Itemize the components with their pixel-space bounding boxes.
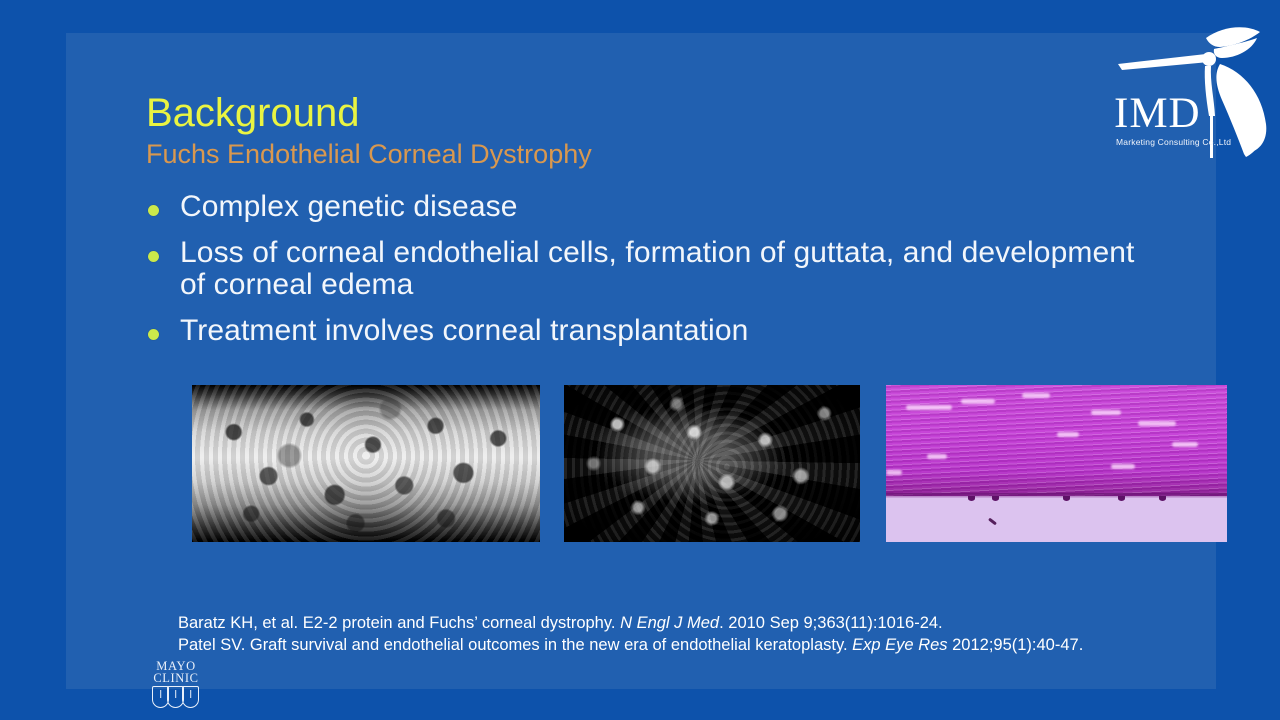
list-item: Treatment involves corneal transplantati…: [146, 315, 1156, 347]
reference-line: Patel SV. Graft survival and endothelial…: [178, 634, 1178, 656]
stroma-streak: [1172, 442, 1198, 447]
bullet-dot-icon: [148, 329, 159, 340]
reference-list: Baratz KH, et al. E2-2 protein and Fuchs…: [178, 612, 1178, 656]
bullet-list: Complex genetic disease Loss of corneal …: [146, 191, 1156, 361]
descemet-guttae-nick: [1063, 496, 1070, 501]
reference-text-pre: Patel SV. Graft survival and endothelial…: [178, 636, 852, 654]
shield-icon: [182, 686, 199, 708]
bullet-text: Loss of corneal endothelial cells, forma…: [180, 237, 1156, 301]
imd-wordmark: IMD: [1114, 92, 1201, 135]
reference-text-post: 2012;95(1):40-47.: [948, 636, 1084, 654]
descemet-guttae-nick: [1118, 496, 1125, 501]
stroma-streak: [886, 470, 902, 475]
reference-journal: N Engl J Med: [620, 614, 719, 632]
list-item: Complex genetic disease: [146, 191, 1156, 223]
mayo-shields-icon: [152, 686, 200, 710]
histology-image: [886, 385, 1227, 542]
imd-tagline: Marketing Consulting Co.,Ltd: [1116, 137, 1231, 147]
reference-journal: Exp Eye Res: [852, 636, 947, 654]
stroma-streak: [1111, 464, 1135, 469]
stroma-streak: [927, 454, 947, 459]
reference-line: Baratz KH, et al. E2-2 protein and Fuchs…: [178, 612, 1178, 634]
stroma-streak: [1138, 421, 1176, 426]
imd-logo: IMD Marketing Consulting Co.,Ltd: [1110, 16, 1280, 158]
corneal-stroma-layer: [886, 385, 1227, 496]
descemet-guttae-nick: [992, 496, 999, 501]
stroma-streak: [961, 399, 995, 404]
specular-microscopy-image: [192, 385, 540, 542]
descemet-guttae-nick: [968, 496, 975, 501]
descemet-guttae-nick: [1159, 496, 1166, 501]
reference-text-post: . 2010 Sep 9;363(11):1016-24.: [719, 614, 943, 632]
stroma-streak: [906, 405, 952, 410]
reference-text-pre: Baratz KH, et al. E2-2 protein and Fuchs…: [178, 614, 620, 632]
mayo-clinic-logo: MAYO CLINIC: [144, 660, 208, 710]
stroma-streak: [1057, 432, 1079, 437]
page-subtitle: Fuchs Endothelial Corneal Dystrophy: [146, 138, 1046, 170]
page-title: Background: [146, 91, 1046, 135]
stroma-streak: [1022, 393, 1050, 398]
confocal-microscopy-image: [564, 385, 860, 542]
presentation-slide: Background Fuchs Endothelial Corneal Dys…: [66, 33, 1216, 689]
bullet-text: Treatment involves corneal transplantati…: [180, 315, 748, 347]
stroma-streak: [1091, 410, 1121, 415]
slide-viewport: Background Fuchs Endothelial Corneal Dys…: [0, 0, 1280, 720]
mayo-logo-line-2: CLINIC: [144, 672, 208, 684]
histology-artifact: [988, 518, 997, 526]
confocal-microscopy-texture: [564, 385, 860, 542]
figure-strip: [124, 385, 1184, 545]
title-block: Background Fuchs Endothelial Corneal Dys…: [146, 91, 1046, 170]
histology-texture: [886, 385, 1227, 542]
bullet-text: Complex genetic disease: [180, 191, 518, 223]
specular-microscopy-texture: [192, 385, 540, 542]
descemet-membrane-edge: [886, 493, 1227, 498]
list-item: Loss of corneal endothelial cells, forma…: [146, 237, 1156, 301]
bullet-dot-icon: [148, 205, 159, 216]
bullet-dot-icon: [148, 251, 159, 262]
